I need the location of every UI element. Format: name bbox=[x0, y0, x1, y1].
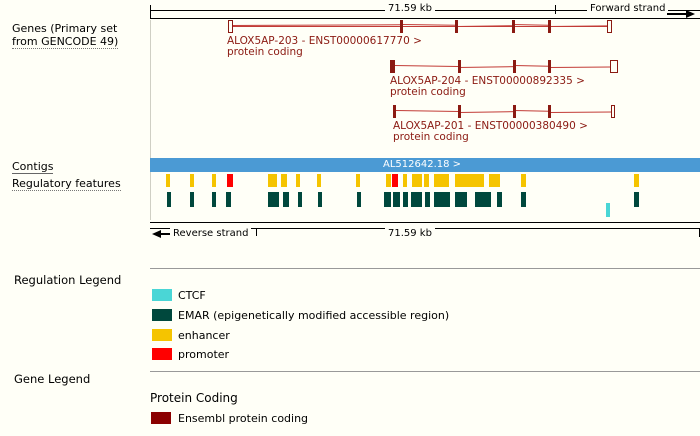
forward-strand-arrow-icon bbox=[686, 10, 695, 18]
transcript-biotype-label: protein coding bbox=[390, 86, 466, 98]
intron-line-seg bbox=[514, 110, 549, 112]
reg-emar[interactable] bbox=[455, 192, 467, 207]
reg-emar[interactable] bbox=[268, 192, 279, 207]
exon-box bbox=[400, 20, 403, 33]
regulation-legend-label: promoter bbox=[178, 348, 229, 361]
exon-box bbox=[228, 20, 233, 33]
bottom-ruler-tick-mid bbox=[256, 228, 257, 236]
reg-enhancer[interactable] bbox=[281, 174, 287, 187]
exon-box bbox=[610, 60, 618, 73]
ensembl-protein-coding-swatch-icon bbox=[151, 412, 171, 424]
promoter-swatch-icon bbox=[152, 348, 172, 360]
reg-enhancer[interactable] bbox=[521, 174, 526, 187]
gene-legend-title: Gene Legend bbox=[14, 373, 90, 386]
reg-enhancer[interactable] bbox=[386, 174, 391, 187]
regulation-legend-title: Regulation Legend bbox=[14, 274, 121, 287]
regulatory-label-text: Regulatory features bbox=[12, 178, 121, 191]
reg-enhancer[interactable] bbox=[434, 174, 449, 187]
reg-emar[interactable] bbox=[212, 192, 216, 207]
reg-enhancer[interactable] bbox=[403, 174, 407, 187]
transcript-biotype-label: protein coding bbox=[393, 131, 469, 143]
exon-box bbox=[607, 20, 612, 33]
exon-box bbox=[611, 105, 615, 118]
top-ruler-tick-mid bbox=[555, 5, 556, 14]
intron-line-seg bbox=[514, 65, 549, 67]
bottom-ruler-line-upper bbox=[150, 222, 700, 223]
intron-line-seg bbox=[394, 65, 458, 67]
intron-line-seg bbox=[396, 110, 459, 112]
reg-enhancer[interactable] bbox=[268, 174, 277, 187]
bottom-ruler-strand-label: Reverse strand bbox=[170, 228, 251, 239]
exon-box bbox=[513, 105, 516, 118]
reg-emar[interactable] bbox=[393, 192, 400, 207]
reverse-strand-arrow-icon bbox=[152, 230, 161, 238]
reg-enhancer[interactable] bbox=[317, 174, 321, 187]
regulation-legend-label: EMAR (epigenetically modified accessible… bbox=[178, 309, 449, 322]
reg-emar[interactable] bbox=[357, 192, 361, 207]
reg-emar[interactable] bbox=[318, 192, 322, 207]
forward-strand-arrow-stem bbox=[667, 13, 687, 15]
bottom-ruler-scale-label: 71.59 kb bbox=[385, 228, 435, 239]
reg-emar[interactable] bbox=[283, 192, 289, 207]
reg-emar[interactable] bbox=[226, 192, 231, 207]
exon-box bbox=[458, 60, 461, 73]
exon-box bbox=[393, 105, 396, 118]
regulatory-features-track-label[interactable]: Regulatory features bbox=[12, 177, 121, 191]
ctcf-swatch-icon bbox=[152, 289, 172, 301]
exon-box bbox=[458, 105, 461, 118]
reg-emar[interactable] bbox=[475, 192, 491, 207]
top-ruler-scale-label: 71.59 kb bbox=[385, 3, 435, 14]
intron-line-seg bbox=[459, 111, 514, 113]
contigs-label-text: Contigs bbox=[12, 161, 53, 174]
exon-box bbox=[512, 20, 515, 33]
top-ruler-tick-left bbox=[150, 5, 151, 19]
reg-promoter[interactable] bbox=[392, 174, 398, 187]
genes-track-label[interactable]: Genes (Primary set from GENCODE 49) bbox=[12, 22, 118, 49]
contigs-track-label[interactable]: Contigs bbox=[12, 160, 53, 174]
regulation-legend-label: enhancer bbox=[178, 329, 230, 342]
top-ruler-line-lower bbox=[150, 18, 700, 19]
reg-enhancer[interactable] bbox=[412, 174, 422, 187]
reg-enhancer[interactable] bbox=[190, 174, 194, 187]
reg-emar[interactable] bbox=[411, 192, 422, 207]
reg-emar[interactable] bbox=[434, 192, 450, 207]
reg-enhancer[interactable] bbox=[166, 174, 170, 187]
panel-left-border bbox=[150, 20, 151, 220]
exon-box bbox=[390, 60, 395, 73]
genes-track-label-line1: Genes (Primary set bbox=[12, 22, 117, 35]
intron-line-seg bbox=[549, 111, 612, 113]
top-ruler-strand-label: Forward strand bbox=[587, 3, 668, 14]
reg-emar[interactable] bbox=[497, 192, 502, 207]
reg-emar[interactable] bbox=[403, 192, 408, 207]
gene-legend-divider bbox=[150, 371, 700, 372]
enhancer-swatch-icon bbox=[152, 329, 172, 341]
reg-enhancer[interactable] bbox=[424, 174, 429, 187]
genes-track-label-line2: from GENCODE 49) bbox=[12, 36, 118, 49]
reg-emar[interactable] bbox=[384, 192, 391, 207]
emar-swatch-icon bbox=[152, 309, 172, 321]
reg-emar[interactable] bbox=[190, 192, 194, 207]
transcript-biotype-label: protein coding bbox=[227, 46, 303, 58]
reg-emar[interactable] bbox=[167, 192, 171, 207]
gene-legend-label: Ensembl protein coding bbox=[178, 412, 308, 425]
reg-promoter[interactable] bbox=[227, 174, 233, 187]
reg-enhancer[interactable] bbox=[296, 174, 300, 187]
regulation-legend-label: CTCF bbox=[178, 289, 206, 302]
reg-ctcf[interactable] bbox=[606, 203, 610, 217]
exon-box bbox=[548, 60, 551, 73]
contig-name-label: AL512642.18 > bbox=[383, 158, 461, 171]
reg-emar[interactable] bbox=[521, 192, 526, 207]
exon-box bbox=[548, 20, 551, 33]
reg-emar[interactable] bbox=[425, 192, 430, 207]
intron-line-seg bbox=[458, 66, 514, 68]
genome-browser-region-view: 71.59 kb Forward strand Genes (Primary s… bbox=[0, 0, 700, 436]
reg-enhancer[interactable] bbox=[634, 174, 639, 187]
exon-box bbox=[455, 20, 458, 33]
reg-emar[interactable] bbox=[634, 192, 639, 207]
regulation-legend-divider bbox=[150, 268, 700, 269]
reg-enhancer[interactable] bbox=[489, 174, 500, 187]
intron-line-seg bbox=[549, 66, 611, 68]
reg-enhancer[interactable] bbox=[455, 174, 484, 187]
gene-legend-group-title: Protein Coding bbox=[150, 392, 238, 405]
exon-box bbox=[548, 105, 551, 118]
reg-enhancer[interactable] bbox=[212, 174, 216, 187]
reg-enhancer[interactable] bbox=[356, 174, 360, 187]
reg-emar[interactable] bbox=[298, 192, 302, 207]
exon-box bbox=[513, 60, 516, 73]
